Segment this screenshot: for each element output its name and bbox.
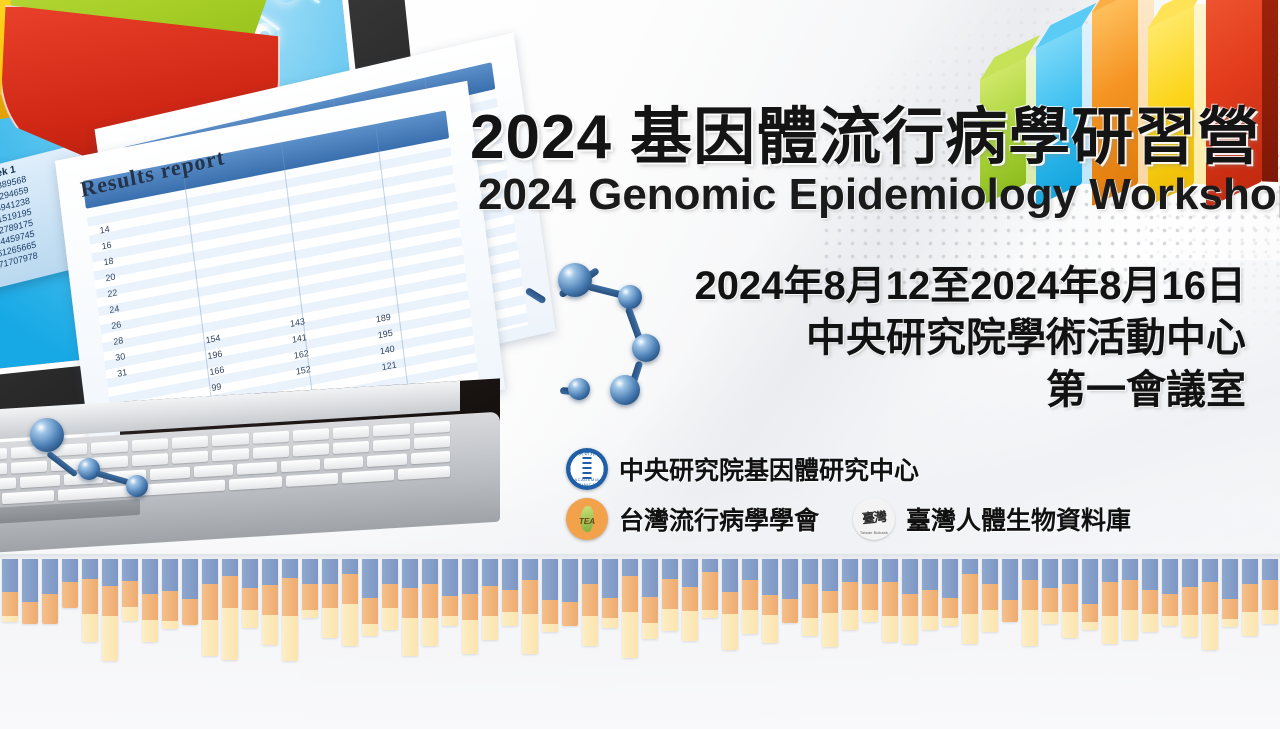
bar-chart-stack [182, 554, 198, 625]
bar-chart-stack [222, 554, 238, 660]
bar-segment-orange [182, 599, 198, 625]
bar-chart-stack [402, 554, 418, 656]
sheet-number: 99 [211, 381, 222, 393]
bar-chart-column [700, 554, 720, 618]
bar-chart-column [180, 554, 200, 625]
bar-chart-stack [802, 554, 818, 636]
bar-segment-blue [402, 554, 418, 588]
tea-abbreviation: TEA [566, 517, 608, 526]
bar-segment-pale [722, 614, 738, 650]
bar-segment-orange [622, 576, 638, 612]
bar-segment-pale [322, 608, 338, 638]
bar-segment-orange [682, 587, 698, 611]
bar-segment-orange [262, 585, 278, 615]
bar-segment-pale [1262, 610, 1278, 624]
bar-chart-stack [982, 554, 998, 632]
bar-segment-pale [982, 610, 998, 632]
bar-segment-orange [282, 578, 298, 616]
bar-chart-stack [542, 554, 558, 632]
bar-segment-orange [822, 591, 838, 613]
bar-segment-blue [602, 554, 618, 598]
bar-chart-stack [1122, 554, 1138, 640]
bar-segment-pale [382, 608, 398, 630]
organizer-academia-sinica: 中央研究院 ACADEMIA SINICA 中央研究院基因體研究中心 [566, 448, 919, 490]
bar-segment-blue [362, 554, 378, 598]
bar-chart-column [60, 554, 80, 608]
bar-segment-pale [542, 624, 558, 632]
bar-chart-column [520, 554, 540, 654]
bar-segment-blue [42, 554, 58, 594]
bar-chart-stack [502, 554, 518, 626]
bar-chart-stack [1082, 554, 1098, 630]
bar-segment-orange [862, 584, 878, 610]
bar-chart-column [100, 554, 120, 661]
bar-chart-column [200, 554, 220, 656]
bar-segment-orange [142, 594, 158, 620]
bar-chart-column [560, 554, 580, 626]
bar-segment-pale [1182, 615, 1198, 637]
bar-segment-orange [662, 579, 678, 609]
bar-segment-blue [162, 554, 178, 591]
bar-segment-orange [42, 594, 58, 624]
bar-chart-column [1020, 554, 1040, 646]
bar-segment-blue [642, 554, 658, 597]
bar-segment-orange [882, 582, 898, 616]
bar-chart-column [740, 554, 760, 634]
bar-segment-pale [822, 613, 838, 647]
bar-segment-blue [542, 554, 558, 600]
bar-segment-pale [842, 610, 858, 630]
bar-segment-orange [1022, 580, 1038, 610]
bar-chart-stack [782, 554, 798, 623]
bar-segment-blue [182, 554, 198, 599]
bar-chart-column [300, 554, 320, 618]
bar-segment-orange [382, 584, 398, 608]
bar-chart-column [280, 554, 300, 661]
bar-segment-blue [922, 554, 938, 590]
bar-chart-stack [602, 554, 618, 628]
bar-chart-column [1040, 554, 1060, 624]
bar-chart-column [0, 554, 20, 622]
bar-segment-pale [1242, 612, 1258, 636]
bar-segment-orange [642, 597, 658, 623]
bar-chart-stack [382, 554, 398, 630]
bar-chart-column [1100, 554, 1120, 644]
bar-segment-orange [1202, 582, 1218, 614]
bar-chart-stack [1102, 554, 1118, 644]
bar-chart-stack [842, 554, 858, 630]
bar-chart-stack [102, 554, 118, 661]
bar-segment-pale [262, 615, 278, 645]
bar-segment-orange [462, 594, 478, 620]
bar-chart-stack [622, 554, 638, 658]
bar-segment-blue [822, 554, 838, 591]
bar-segment-orange [362, 598, 378, 624]
bar-segment-orange [1182, 587, 1198, 615]
bar-chart-column [800, 554, 820, 636]
bar-segment-pale [142, 620, 158, 642]
bar-segment-blue [1162, 554, 1178, 594]
sheet-number: 24 [109, 303, 120, 315]
bar-segment-orange [982, 584, 998, 610]
bar-chart-stack [822, 554, 838, 647]
bar-segment-orange [962, 574, 978, 614]
bar-segment-orange [582, 584, 598, 616]
bar-segment-pale [1122, 610, 1138, 640]
bar-segment-pale [1202, 614, 1218, 650]
bar-segment-orange [722, 592, 738, 614]
bar-segment-pale [762, 615, 778, 643]
page-title-english: 2024 Genomic Epidemiology Workshop [478, 168, 1280, 222]
bar-segment-blue [902, 554, 918, 594]
bar-chart-column [1060, 554, 1080, 638]
bar-segment-blue [722, 554, 738, 592]
bar-segment-pale [942, 618, 958, 626]
bar-chart-column [580, 554, 600, 646]
bar-segment-pale [1162, 616, 1178, 626]
bar-segment-pale [82, 614, 98, 642]
event-venue-line: 中央研究院學術活動中心 [695, 312, 1246, 364]
bar-chart-stack [662, 554, 678, 631]
bar-segment-pale [422, 618, 438, 646]
bar-segment-blue [942, 554, 958, 598]
bar-segment-pale [162, 621, 178, 629]
bar-segment-pale [582, 616, 598, 646]
bar-chart-column [780, 554, 800, 623]
bar-chart-stack [202, 554, 218, 656]
bar-segment-orange [82, 579, 98, 614]
bar-chart-stack [362, 554, 378, 636]
bar-chart-stack [482, 554, 498, 640]
bar-segment-pale [962, 614, 978, 644]
bar-segment-pale [282, 616, 298, 661]
bar-chart-stack [442, 554, 458, 626]
bar-segment-orange [1262, 580, 1278, 610]
bar-chart-stack [1022, 554, 1038, 646]
bar-segment-orange [242, 588, 258, 610]
bar-chart-stack [682, 554, 698, 641]
sheet-number: 18 [103, 256, 114, 268]
bar-chart-stack [282, 554, 298, 661]
bar-chart-stack [882, 554, 898, 642]
bar-chart-column [260, 554, 280, 645]
bar-segment-blue [142, 554, 158, 594]
sheet-number: 28 [113, 335, 124, 347]
bar-segment-pale [662, 609, 678, 631]
bar-segment-orange [542, 600, 558, 624]
bar-chart-column [880, 554, 900, 642]
taiwan-biobank-logo-calligraphy: 臺灣 [853, 505, 895, 528]
bar-chart-column [220, 554, 240, 660]
organizer-list: 中央研究院 ACADEMIA SINICA 中央研究院基因體研究中心 TEA 台… [566, 448, 1131, 548]
bar-segment-orange [1242, 584, 1258, 612]
academia-sinica-logo-bottom-text: ACADEMIA SINICA [566, 477, 608, 487]
bar-chart-stack [42, 554, 58, 624]
bar-chart-column [1240, 554, 1260, 636]
bar-segment-pale [1102, 616, 1118, 644]
organizer-name: 中央研究院基因體研究中心 [619, 451, 919, 487]
bar-segment-orange [762, 595, 778, 615]
bar-chart-stack [22, 554, 38, 624]
organizer-name: 臺灣人體生物資料庫 [906, 501, 1131, 537]
taiwan-biobank-logo: 臺灣 Taiwan Biobank [853, 498, 895, 540]
bar-chart-stack [462, 554, 478, 654]
bar-chart-column [340, 554, 360, 646]
bar-chart-stack [422, 554, 438, 646]
event-date-line: 2024年8月12至2024年8月16日 [695, 260, 1246, 312]
bar-segment-blue [1222, 554, 1238, 599]
bar-chart-stack [1142, 554, 1158, 632]
academia-sinica-logo-top-text: 中央研究院 [566, 450, 608, 457]
bar-segment-blue [1042, 554, 1058, 588]
bar-segment-orange [502, 590, 518, 612]
bar-chart-top-rail [0, 554, 1280, 559]
bar-chart-stack [1002, 554, 1018, 622]
organizer-row-secondary: TEA 台灣流行病學學會 臺灣 Taiwan Biobank 臺灣人體生物資料庫 [566, 498, 1131, 540]
bar-segment-pale [682, 611, 698, 641]
bar-segment-pale [2, 616, 18, 622]
bar-chart-stack [142, 554, 158, 642]
bar-chart-column [240, 554, 260, 628]
bar-segment-pale [602, 618, 618, 628]
bar-segment-orange [342, 574, 358, 604]
bar-segment-pale [922, 616, 938, 630]
bar-segment-orange [602, 598, 618, 618]
bar-chart-column [80, 554, 100, 642]
bar-segment-pale [442, 616, 458, 626]
bar-chart-column [920, 554, 940, 630]
bar-segment-blue [1142, 554, 1158, 590]
bar-chart-column [1160, 554, 1180, 626]
bar-chart-column [1220, 554, 1240, 627]
bar-segment-orange [102, 586, 118, 616]
bar-chart-stack [522, 554, 538, 654]
bar-segment-pale [242, 610, 258, 628]
bar-segment-orange [562, 602, 578, 626]
bar-chart-stack [262, 554, 278, 645]
bar-segment-blue [1002, 554, 1018, 600]
bar-chart-stack [962, 554, 978, 644]
taiwan-biobank-logo-subtext: Taiwan Biobank [853, 531, 895, 535]
taiwan-epidemiology-association-logo: TEA [566, 498, 608, 540]
bar-segment-orange [522, 580, 538, 614]
bar-segment-pale [1042, 612, 1058, 624]
bar-chart-stack [82, 554, 98, 642]
bar-segment-orange [842, 582, 858, 610]
bar-chart-stack [862, 554, 878, 622]
bar-segment-pale [102, 616, 118, 661]
bar-chart-column [40, 554, 60, 624]
bar-chart-column [1080, 554, 1100, 630]
bar-segment-orange [402, 588, 418, 618]
bar-segment-blue [762, 554, 778, 595]
bar-chart-column [480, 554, 500, 640]
bar-chart-stack [762, 554, 778, 643]
bar-chart-stack [562, 554, 578, 626]
bar-chart-column [860, 554, 880, 622]
bar-segment-pale [622, 612, 638, 658]
bar-segment-orange [62, 582, 78, 608]
bar-chart-column [1200, 554, 1220, 650]
bar-chart-stack [722, 554, 738, 650]
bar-segment-blue [782, 554, 798, 599]
bar-segment-pale [1062, 612, 1078, 638]
bar-segment-pale [342, 604, 358, 646]
bar-segment-orange [1042, 588, 1058, 612]
bar-chart-column [20, 554, 40, 624]
event-info-block: 2024年8月12至2024年8月16日 中央研究院學術活動中心 第一會議室 [695, 260, 1246, 416]
bar-segment-orange [802, 584, 818, 618]
bar-segment-orange [942, 598, 958, 618]
bar-segment-pale [202, 620, 218, 656]
bar-chart-column [140, 554, 160, 642]
bar-segment-orange [2, 592, 18, 616]
decorative-laptop-illustration: Original Variation 1 Variation 2 Variati… [0, 0, 480, 520]
bar-chart-stack [62, 554, 78, 608]
bar-chart-stack [302, 554, 318, 618]
organizer-row-primary: 中央研究院 ACADEMIA SINICA 中央研究院基因體研究中心 [566, 448, 1131, 490]
sheet-number: 31 [117, 367, 128, 379]
bar-chart-column [1180, 554, 1200, 637]
sheet-number: 22 [107, 287, 118, 299]
bar-chart-stack [242, 554, 258, 628]
bar-segment-orange [302, 584, 318, 610]
bar-segment-orange [782, 599, 798, 623]
bar-chart-column [1000, 554, 1020, 622]
bar-chart-column [1120, 554, 1140, 640]
bar-chart-stack [1042, 554, 1058, 624]
bottom-decorative-bar-chart [0, 554, 1280, 729]
bar-segment-pale [1082, 622, 1098, 630]
bar-segment-pale [402, 618, 418, 656]
bar-segment-blue [22, 554, 38, 602]
bar-segment-orange [202, 584, 218, 620]
bar-segment-orange [422, 584, 438, 618]
bar-chart-column [380, 554, 400, 630]
bar-segment-pale [862, 610, 878, 622]
bar-chart-column [820, 554, 840, 647]
page-title-chinese: 2024 基因體流行病學研習營 [470, 102, 1260, 174]
bar-chart-stack [1222, 554, 1238, 627]
bar-segment-pale [462, 620, 478, 654]
bar-segment-pale [642, 623, 658, 639]
bar-chart-stack [742, 554, 758, 634]
bar-segment-pale [1142, 614, 1158, 632]
bar-chart-column [400, 554, 420, 656]
bar-chart-stack [1062, 554, 1078, 638]
sheet-number: 14 [99, 224, 110, 236]
bar-chart-stack [342, 554, 358, 646]
bar-chart-column [500, 554, 520, 626]
bar-segment-orange [1222, 599, 1238, 619]
bar-segment-orange [922, 590, 938, 616]
bar-chart-column [900, 554, 920, 644]
bar-chart-stack [122, 554, 138, 621]
bar-chart-stack [162, 554, 178, 629]
sheet-number: 16 [101, 240, 112, 252]
bar-chart-stack [582, 554, 598, 646]
bar-segment-pale [522, 614, 538, 654]
bar-chart-stack [922, 554, 938, 630]
bar-segment-orange [1162, 594, 1178, 616]
bar-chart-column [600, 554, 620, 628]
bar-segment-blue [2, 554, 18, 592]
bar-chart-column [960, 554, 980, 644]
bar-chart-stack [902, 554, 918, 644]
bar-chart-column [680, 554, 700, 641]
bar-chart-column [1260, 554, 1280, 624]
bar-segment-orange [1122, 580, 1138, 610]
organizer-name: 台灣流行病學學會 [619, 501, 819, 537]
bar-segment-blue [242, 554, 258, 588]
bar-segment-orange [1062, 584, 1078, 612]
bar-chart-stack [2, 554, 18, 622]
bar-chart-stack [942, 554, 958, 626]
bar-segment-pale [882, 616, 898, 642]
bar-chart-column [940, 554, 960, 626]
bar-chart-column [660, 554, 680, 631]
bar-segment-pale [1022, 610, 1038, 646]
bar-chart-column [720, 554, 740, 650]
bar-chart-stack [642, 554, 658, 639]
organizer-taiwan-epidemiology-association: TEA 台灣流行病學學會 [566, 498, 819, 540]
bar-segment-pale [362, 624, 378, 636]
bar-chart-stack [702, 554, 718, 618]
bar-segment-blue [562, 554, 578, 602]
event-room-line: 第一會議室 [695, 364, 1246, 416]
bar-chart-column [360, 554, 380, 636]
sheet-number: 26 [111, 319, 122, 331]
bar-chart-column [640, 554, 660, 639]
bar-segment-orange [1102, 582, 1118, 616]
bar-segment-orange [22, 602, 38, 624]
bar-segment-orange [482, 586, 498, 616]
bar-segment-pale [802, 618, 818, 636]
bar-segment-orange [322, 584, 338, 608]
poster-canvas: Original Variation 1 Variation 2 Variati… [0, 0, 1280, 729]
organizer-taiwan-biobank: 臺灣 Taiwan Biobank 臺灣人體生物資料庫 [853, 498, 1131, 540]
bar-chart-column [320, 554, 340, 638]
bar-chart-column [440, 554, 460, 626]
bar-chart-column [420, 554, 440, 646]
sheet-number: 20 [105, 271, 116, 283]
bar-segment-orange [162, 591, 178, 621]
bar-segment-orange [742, 580, 758, 610]
bar-segment-blue [502, 554, 518, 590]
bar-segment-pale [1222, 619, 1238, 627]
bar-segment-orange [1082, 604, 1098, 622]
bar-segment-blue [1082, 554, 1098, 604]
bar-chart-stack [1182, 554, 1198, 637]
bar-segment-blue [442, 554, 458, 596]
bar-segment-orange [1002, 600, 1018, 622]
bar-segment-orange [442, 596, 458, 616]
bar-segment-pale [122, 607, 138, 621]
bar-segment-pale [482, 616, 498, 640]
bar-chart-stack [322, 554, 338, 638]
bar-segment-orange [902, 594, 918, 616]
bar-chart-column [1140, 554, 1160, 632]
sheet-number: 30 [115, 351, 126, 363]
bar-segment-orange [122, 581, 138, 607]
bar-segment-orange [222, 576, 238, 608]
bar-chart-column [760, 554, 780, 643]
bar-chart-column [980, 554, 1000, 632]
bar-chart-stack [1162, 554, 1178, 626]
bar-segment-orange [702, 572, 718, 610]
bar-segment-pale [502, 612, 518, 626]
bar-chart-column [840, 554, 860, 630]
